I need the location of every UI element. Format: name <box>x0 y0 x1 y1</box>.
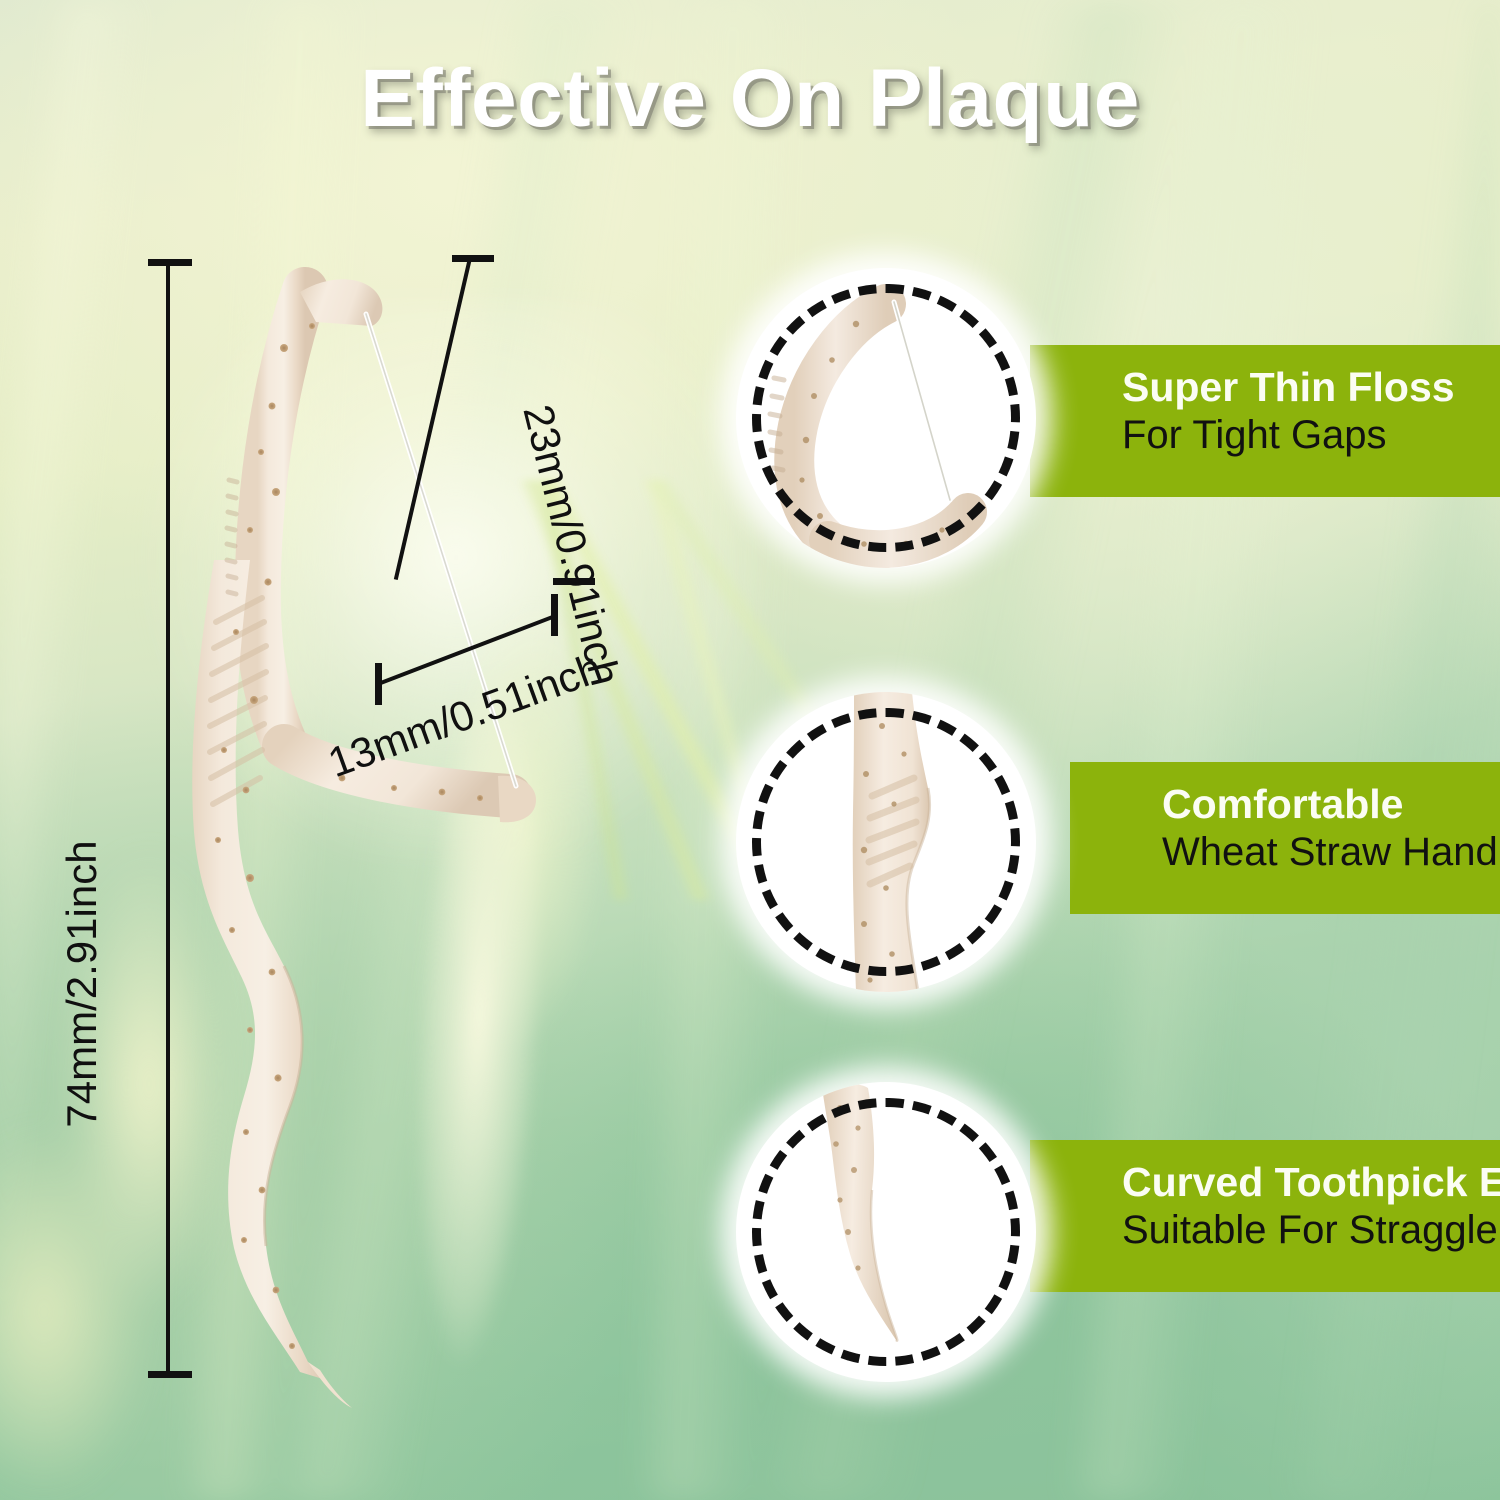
feature-banner-comfortable-handle: Comfortable Wheat Straw Handle <box>1070 762 1500 914</box>
feature-title: Curved Toothpick End <box>1122 1158 1480 1206</box>
fork-width-cap-right <box>551 594 558 636</box>
detail-circle-curved-toothpick <box>736 1082 1036 1382</box>
serration-texture-icon <box>227 480 237 594</box>
dashed-ring-icon <box>752 284 1020 552</box>
feature-banner-super-thin-floss: Super Thin Floss For Tight Gaps <box>1030 345 1500 497</box>
overall-length-line <box>166 262 170 1378</box>
product-infographic: Effective On Plaque <box>0 0 1500 1500</box>
dashed-ring-icon <box>752 708 1020 976</box>
overall-length-cap-top <box>148 259 192 266</box>
feature-title: Super Thin Floss <box>1122 363 1480 411</box>
detail-circle-super-thin-floss <box>736 268 1036 568</box>
fork-width-cap-left <box>375 663 382 705</box>
toothpick-tip <box>308 1362 352 1408</box>
feature-subtitle: For Tight Gaps <box>1122 411 1480 459</box>
feature-subtitle: Wheat Straw Handle <box>1162 828 1480 876</box>
overall-length-cap-bottom <box>148 1371 192 1378</box>
detail-circle-comfortable-handle <box>736 692 1036 992</box>
fork-height-cap-top <box>452 255 494 262</box>
dashed-ring-icon <box>752 1098 1020 1366</box>
feature-banner-curved-toothpick: Curved Toothpick End Suitable For Stragg… <box>1030 1140 1500 1292</box>
feature-title: Comfortable <box>1162 780 1480 828</box>
overall-length-label: 74mm/2.91inch <box>58 774 106 1194</box>
feature-subtitle: Suitable For Stragglers <box>1122 1206 1480 1254</box>
page-title: Effective On Plaque <box>0 52 1500 146</box>
